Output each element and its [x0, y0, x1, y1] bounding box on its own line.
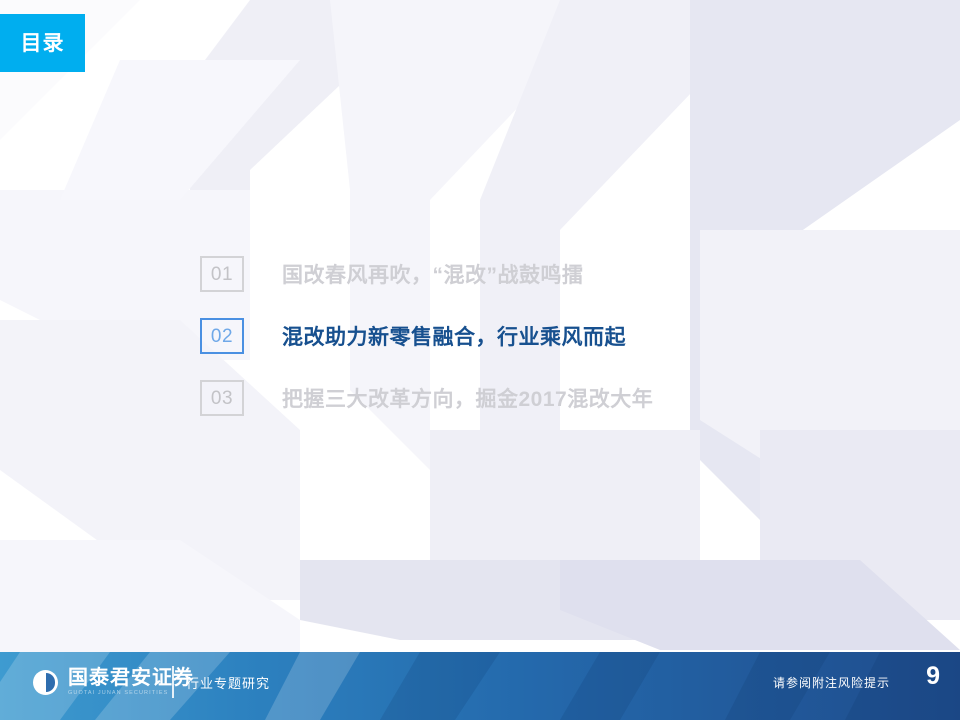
table-of-contents: 01 国改春风再吹，“混改”战鼓鸣擂 02 混改助力新零售融合，行业乘风而起 0…: [200, 243, 900, 429]
toc-number-02: 02: [211, 327, 233, 346]
brand-text: 国泰君安证券 GUOTAI JUNAN SECURITIES: [68, 668, 194, 698]
footer-divider: [172, 666, 174, 698]
toc-number-box-03: 03: [200, 380, 244, 416]
toc-number-box-02: 02: [200, 318, 244, 354]
brand-logo: 国泰君安证券 GUOTAI JUNAN SECURITIES: [33, 668, 194, 698]
toc-title-02: 混改助力新零售融合，行业乘风而起: [282, 321, 626, 351]
toc-header-label: 目录: [21, 33, 65, 54]
footer-risk-note: 请参阅附注风险提示: [773, 674, 890, 691]
brand-name-cn: 国泰君安证券: [68, 668, 194, 689]
toc-number-box-01: 01: [200, 256, 244, 292]
toc-number-01: 01: [211, 265, 233, 284]
toc-item-01[interactable]: 01 国改春风再吹，“混改”战鼓鸣擂: [200, 243, 900, 305]
toc-item-03[interactable]: 03 把握三大改革方向，掘金2017混改大年: [200, 367, 900, 429]
toc-number-03: 03: [211, 389, 233, 408]
brand-name-en: GUOTAI JUNAN SECURITIES: [68, 690, 194, 698]
toc-title-01: 国改春风再吹，“混改”战鼓鸣擂: [282, 259, 584, 289]
toc-title-03: 把握三大改革方向，掘金2017混改大年: [282, 383, 653, 413]
slide-footer: 国泰君安证券 GUOTAI JUNAN SECURITIES 行业专题研究 请参…: [0, 652, 960, 720]
toc-item-02[interactable]: 02 混改助力新零售融合，行业乘风而起: [200, 305, 900, 367]
footer-subtitle: 行业专题研究: [186, 673, 270, 692]
slide: 目录 01 国改春风再吹，“混改”战鼓鸣擂 02 混改助力新零售融合，行业乘风而…: [0, 0, 960, 720]
guotai-junan-logo-icon: [33, 670, 58, 695]
footer-content: 国泰君安证券 GUOTAI JUNAN SECURITIES 行业专题研究 请参…: [0, 652, 960, 720]
toc-header-badge: 目录: [0, 14, 85, 72]
page-number: 9: [926, 664, 940, 689]
